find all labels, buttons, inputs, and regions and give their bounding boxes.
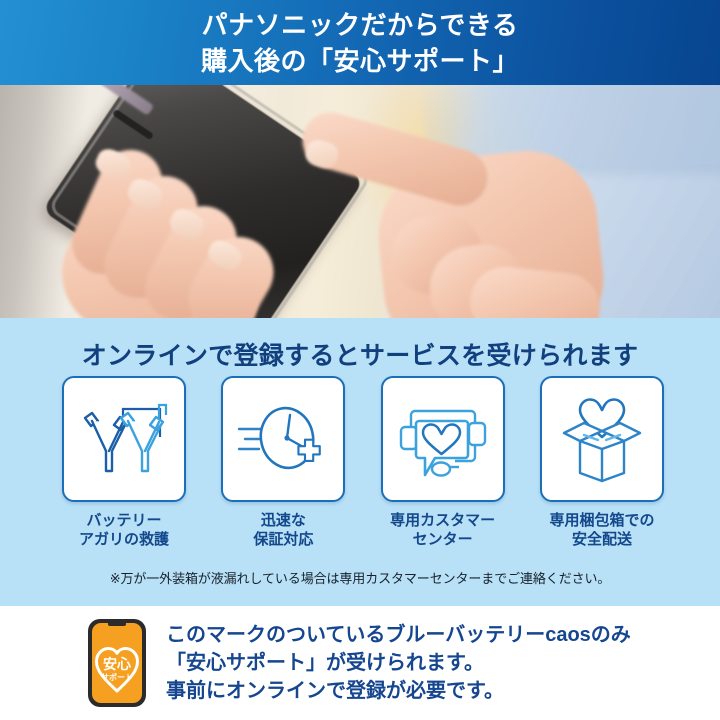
- service-card-label: 専用梱包箱での 安全配送: [549, 511, 654, 549]
- banner-footer: 安心 サポート このマークのついているブルーバッテリーcaosのみ 「安心サポー…: [0, 606, 720, 720]
- hero-photo: [0, 85, 720, 318]
- footer-message: このマークのついているブルーバッテリーcaosのみ 「安心サポート」が受けられま…: [166, 621, 631, 705]
- footer-line-3: 事前にオンラインで登録が必要です。: [166, 677, 631, 705]
- jumper-cables-icon: [76, 393, 172, 485]
- header-title-line-1: パナソニックだからできる: [202, 7, 519, 43]
- service-card-frame: [62, 376, 186, 502]
- headset-heart-chat-icon: [395, 393, 491, 485]
- services-panel: オンラインで登録するとサービスを受けられます: [0, 318, 720, 606]
- service-card-frame: [221, 376, 345, 502]
- fast-clock-plus-icon: [235, 393, 331, 485]
- svg-text:安心: 安心: [103, 656, 131, 672]
- header-title-line-2: 購入後の「安心サポート」: [201, 43, 519, 79]
- service-card-list: バッテリー アガリの救護: [58, 376, 668, 549]
- services-panel-note: ※万が一外装箱が液漏れしている場合は専用カスタマーセンターまでご連絡ください。: [0, 568, 720, 587]
- open-box-heart-icon: [554, 393, 650, 485]
- services-panel-title: オンラインで登録するとサービスを受けられます: [0, 336, 720, 372]
- smartphone-anshin-support-badge-icon: 安心 サポート: [86, 617, 148, 709]
- svg-text:サポート: サポート: [101, 672, 133, 682]
- service-card-safe-delivery[interactable]: 専用梱包箱での 安全配送: [536, 376, 668, 549]
- footer-line-1: このマークのついているブルーバッテリーcaosのみ: [166, 621, 631, 649]
- service-card-frame: [381, 376, 505, 502]
- promo-banner: パナソニックだからできる 購入後の「安心サポート」 オンラインで登録するとサービ…: [0, 0, 720, 720]
- service-card-frame: [540, 376, 664, 502]
- service-card-fast-warranty[interactable]: 迅速な 保証対応: [217, 376, 349, 549]
- footer-line-2: 「安心サポート」が受けられます。: [166, 649, 631, 677]
- service-card-label: 専用カスタマー センター: [390, 511, 495, 549]
- service-card-label: バッテリー アガリの救護: [79, 511, 169, 549]
- service-card-label: 迅速な 保証対応: [253, 511, 313, 549]
- banner-header: パナソニックだからできる 購入後の「安心サポート」: [0, 0, 720, 85]
- service-card-battery-rescue[interactable]: バッテリー アガリの救護: [58, 376, 190, 549]
- service-card-customer-center[interactable]: 専用カスタマー センター: [377, 376, 509, 549]
